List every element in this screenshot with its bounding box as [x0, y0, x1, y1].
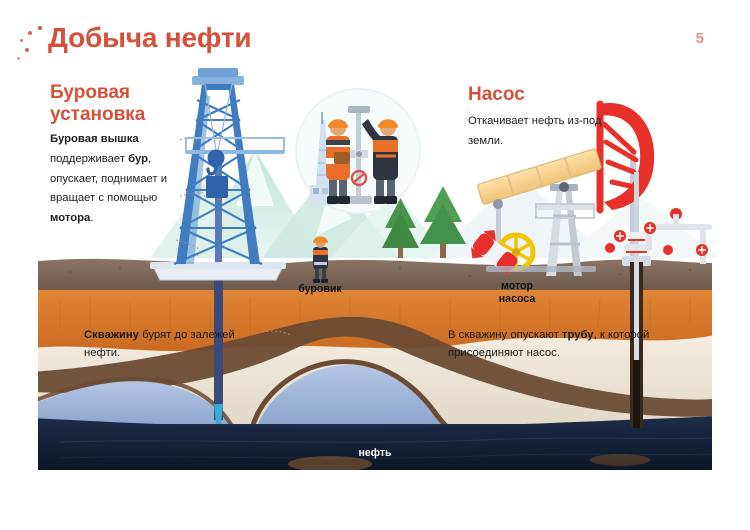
- decorative-dots: [14, 22, 48, 68]
- layer-topsoil: [30, 259, 720, 292]
- annotation-motor: мотор насоса: [486, 280, 548, 306]
- infographic-page: Органические вещества Добыча нефти 5 Бур…: [0, 0, 750, 530]
- page-number: 5: [696, 30, 704, 47]
- page-title: Добыча нефти: [48, 22, 251, 54]
- section-heading-pump: Насос: [468, 84, 618, 106]
- annotation-pipe: В скважину опускают трубу, к которой при…: [448, 327, 658, 362]
- annotation-well: Скважину бурят до залежей нефти.: [84, 327, 264, 362]
- section-body-rig: Буровая вышка поддерживает бур, опускает…: [50, 130, 178, 229]
- section-body-pump: Откачивает нефть из-под земли.: [468, 112, 608, 152]
- geological-cross-section: [30, 259, 720, 472]
- section-heading-rig: Буровая установка: [50, 82, 200, 127]
- annotation-oil: нефть: [345, 447, 405, 459]
- annotation-driller: буровик: [286, 283, 354, 296]
